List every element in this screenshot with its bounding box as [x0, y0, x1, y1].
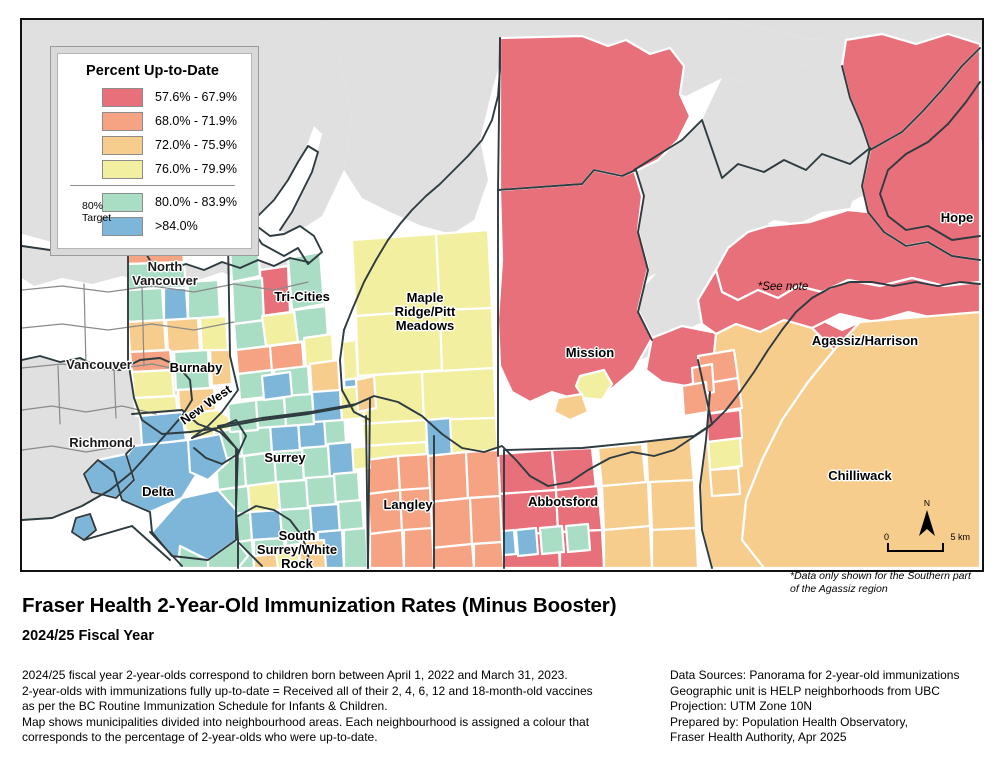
map-panel: North Vancouver Vancouver Richmond Burna… — [20, 18, 984, 572]
footnotes-left: 2024/25 fiscal year 2-year-olds correspo… — [22, 668, 662, 746]
page-subtitle: 2024/25 Fiscal Year — [22, 628, 154, 644]
legend-swatch — [102, 160, 143, 179]
scale-bar-labels: 0 5 km — [884, 530, 970, 542]
footnote-line: Map shows municipalities divided into ne… — [22, 715, 662, 731]
legend-swatch — [102, 136, 143, 155]
legend-swatch — [102, 112, 143, 131]
legend-label: 57.6% - 67.9% — [155, 90, 237, 104]
legend-label: >84.0% — [155, 219, 198, 233]
source-line: Prepared by: Population Health Observato… — [670, 715, 990, 731]
source-line: Geographic unit is HELP neighborhoods fr… — [670, 684, 990, 700]
agassiz-data-note: *Data only shown for the Southern part o… — [790, 570, 980, 595]
page-title: Fraser Health 2-Year-Old Immunization Ra… — [22, 594, 616, 618]
legend-swatch — [102, 88, 143, 107]
legend-target-line: 80% — [82, 200, 103, 212]
legend-label: 76.0% - 79.9% — [155, 162, 237, 176]
legend-row: 72.0% - 75.9% — [68, 133, 237, 157]
legend-80-target-divider — [70, 185, 235, 186]
footnote-line: corresponds to the percentage of 2-year-… — [22, 730, 662, 746]
scale-bar: N 0 5 km — [884, 500, 970, 558]
legend-label: 72.0% - 75.9% — [155, 138, 237, 152]
scale-max-label: 5 km — [950, 532, 970, 542]
legend: Percent Up-to-Date 57.6% - 67.9% 68.0% -… — [50, 46, 259, 256]
footnote-line: 2-year-olds with immunizations fully up-… — [22, 684, 662, 700]
footnote-line: 2024/25 fiscal year 2-year-olds correspo… — [22, 668, 662, 684]
source-line: Data Sources: Panorama for 2-year-old im… — [670, 668, 990, 684]
scale-bar-bracket — [887, 543, 944, 552]
legend-row: 76.0% - 79.9% — [68, 157, 237, 181]
north-arrow-letter: N — [884, 498, 970, 508]
legend-row: 57.6% - 67.9% — [68, 85, 237, 109]
legend-rows-upper: 57.6% - 67.9% 68.0% - 71.9% 72.0% - 75.9… — [68, 85, 237, 181]
footnote-line: as per the BC Routine Immunization Sched… — [22, 699, 662, 715]
legend-label: 80.0% - 83.9% — [155, 195, 237, 209]
legend-inner: Percent Up-to-Date 57.6% - 67.9% 68.0% -… — [57, 53, 252, 249]
source-line: Projection: UTM Zone 10N — [670, 699, 990, 715]
legend-rows-lower: 80% Target 80.0% - 83.9% >84.0% — [68, 190, 237, 238]
legend-target-note: 80% Target — [82, 200, 126, 224]
legend-title: Percent Up-to-Date — [68, 63, 237, 79]
legend-target-line: Target — [82, 212, 111, 224]
footnotes-right: Data Sources: Panorama for 2-year-old im… — [670, 668, 990, 746]
legend-label: 68.0% - 71.9% — [155, 114, 237, 128]
source-line: Fraser Health Authority, Apr 2025 — [670, 730, 990, 746]
scale-zero-label: 0 — [884, 532, 889, 542]
legend-row: 68.0% - 71.9% — [68, 109, 237, 133]
